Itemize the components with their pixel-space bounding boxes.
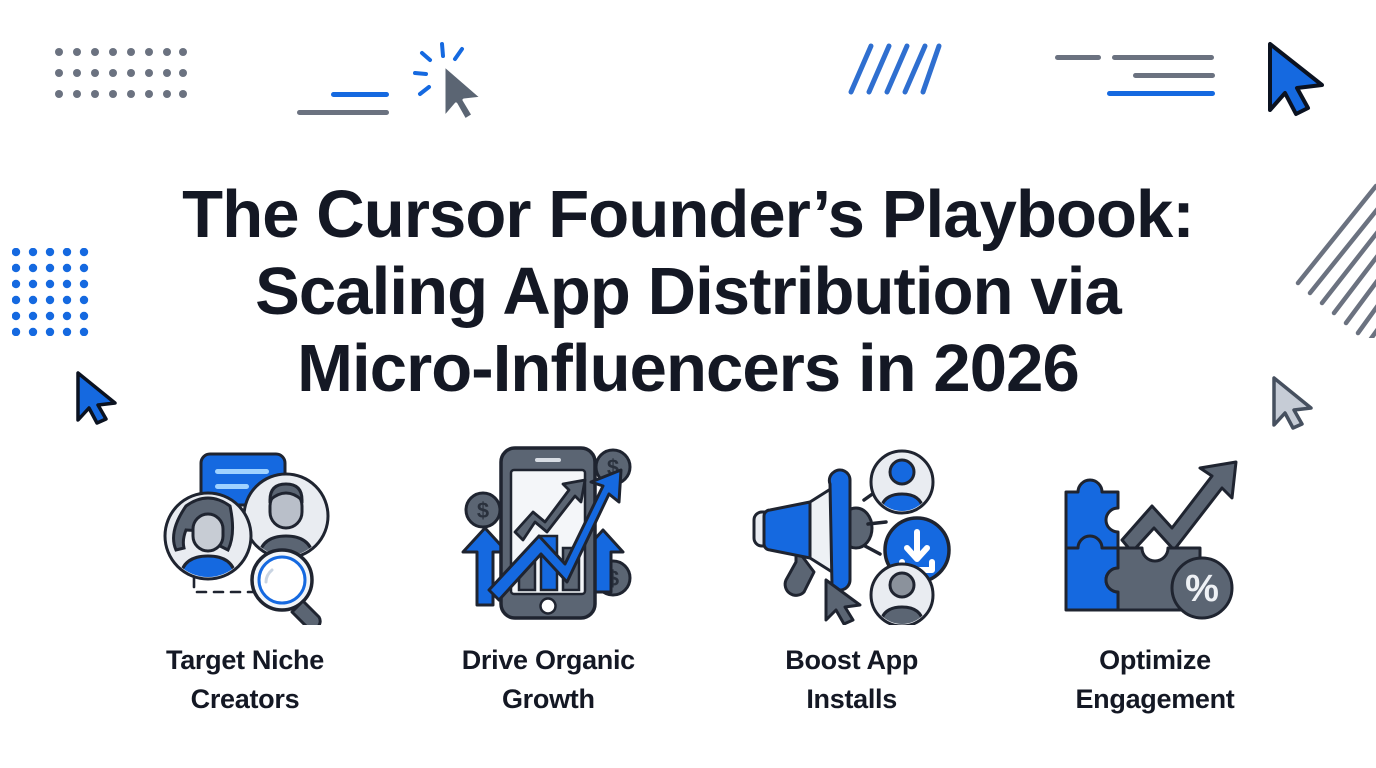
feature-label-line-1: Target Niche	[166, 645, 324, 675]
mobile-growth-chart-icon: $ $ $	[448, 440, 648, 625]
cursor-click-burst-icon	[400, 40, 490, 125]
feature-item-target-niche-creators: Target Niche Creators	[100, 440, 390, 719]
feature-item-optimize-engagement: % Optimize Engagement	[1010, 440, 1300, 719]
dot-grid-gray	[55, 48, 187, 98]
diagonal-slashes-blue	[845, 40, 945, 98]
svg-text:%: %	[1185, 568, 1219, 610]
feature-item-drive-organic-growth: $ $ $	[403, 440, 693, 719]
puzzle-growth-icon: %	[1055, 440, 1255, 625]
feature-label-drive-organic-growth: Drive Organic Growth	[462, 641, 635, 719]
feature-label-line-1: Drive Organic	[462, 645, 635, 675]
page-title-line-2: Scaling App Distribution via	[0, 253, 1376, 330]
text-line-marks	[1055, 55, 1245, 100]
feature-label-line-2: Engagement	[1075, 684, 1234, 714]
audience-targeting-icon	[145, 440, 345, 625]
hero-graphic-canvas: The Cursor Founder’s Playbook: Scaling A…	[0, 0, 1376, 768]
feature-label-boost-app-installs: Boost App Installs	[785, 641, 918, 719]
feature-row: Target Niche Creators $ $ $	[100, 440, 1300, 719]
page-title-line-3: Micro-Influencers in 2026	[0, 330, 1376, 407]
megaphone-installs-icon	[752, 440, 952, 625]
feature-label-line-2: Installs	[806, 684, 897, 714]
feature-label-line-2: Creators	[191, 684, 300, 714]
underline-marks	[297, 92, 389, 118]
cursor-pointer-blue-icon	[1262, 40, 1334, 118]
feature-label-line-1: Boost App	[785, 645, 918, 675]
svg-text:$: $	[477, 498, 489, 523]
page-title: The Cursor Founder’s Playbook: Scaling A…	[0, 176, 1376, 407]
feature-label-line-1: Optimize	[1099, 645, 1211, 675]
page-title-line-1: The Cursor Founder’s Playbook:	[0, 176, 1376, 253]
feature-label-optimize-engagement: Optimize Engagement	[1075, 641, 1234, 719]
feature-item-boost-app-installs: Boost App Installs	[707, 440, 997, 719]
feature-label-line-2: Growth	[502, 684, 595, 714]
feature-label-target-niche-creators: Target Niche Creators	[166, 641, 324, 719]
